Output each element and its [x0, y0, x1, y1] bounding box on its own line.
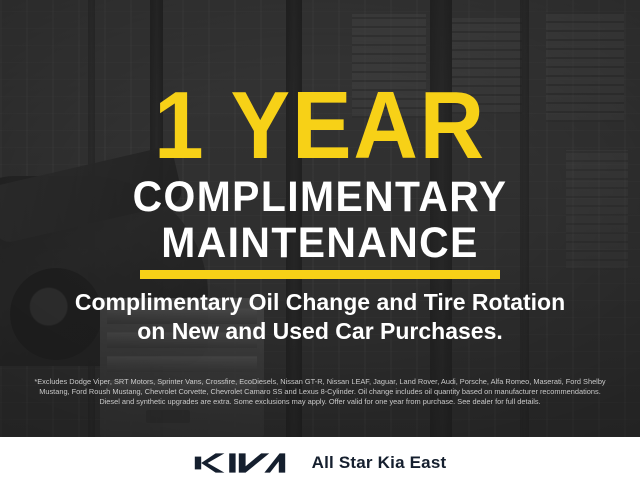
disclaimer-line-1: *Excludes Dodge Viper, SRT Motors, Sprin… — [14, 377, 626, 387]
promo-content: 1 YEAR COMPLIMENTARY MAINTENANCE Complim… — [0, 0, 640, 437]
dealer-name: All Star Kia East — [312, 453, 447, 473]
offer-description-line1: Complimentary Oil Change and Tire Rotati… — [0, 288, 640, 317]
disclaimer-line-3: Diesel and synthetic upgrades are extra.… — [14, 397, 626, 407]
disclaimer-line-2: Mustang, Ford Roush Mustang, Chevrolet C… — [14, 387, 626, 397]
promotional-banner: 1 YEAR COMPLIMENTARY MAINTENANCE Complim… — [0, 0, 640, 488]
offer-description: Complimentary Oil Change and Tire Rotati… — [0, 288, 640, 346]
disclaimer-text: *Excludes Dodge Viper, SRT Motors, Sprin… — [14, 377, 626, 407]
subhead-maintenance: MAINTENANCE — [16, 222, 624, 265]
footer-bar: All Star Kia East — [0, 437, 640, 488]
offer-description-line2: on New and Used Car Purchases. — [0, 317, 640, 346]
headline-1-year: 1 YEAR — [22, 78, 617, 174]
yellow-divider-rule — [140, 270, 500, 279]
kia-logo-icon — [194, 451, 286, 475]
subhead-complimentary: COMPLIMENTARY — [16, 176, 624, 219]
